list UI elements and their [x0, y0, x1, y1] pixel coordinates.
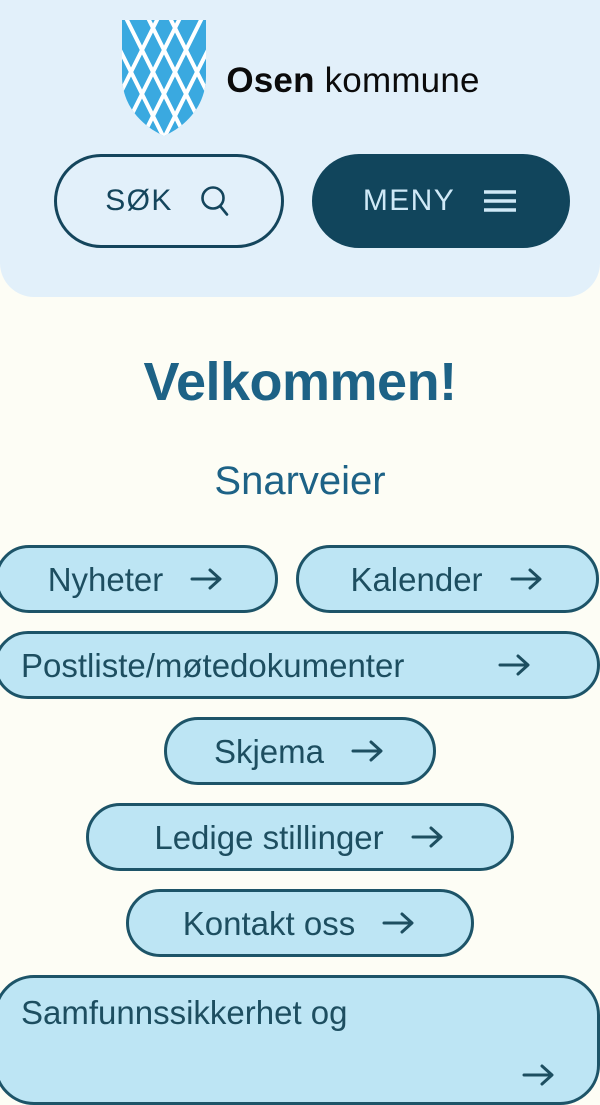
shortcut-nyheter[interactable]: Nyheter	[0, 545, 278, 613]
shortcut-row: Skjema	[0, 717, 600, 785]
shortcut-label: Kalender	[350, 563, 482, 596]
brand-wordmark: Osen kommune	[226, 59, 479, 98]
shortcut-kalender[interactable]: Kalender	[296, 545, 599, 613]
shortcuts-section-title: Snarveier	[0, 409, 600, 501]
brand-name-light: kommune	[325, 61, 480, 100]
arrow-right-icon	[350, 738, 386, 764]
shortcut-label: Skjema	[214, 735, 324, 768]
shortcut-row: Samfunnssikkerhet og	[0, 975, 600, 1105]
shortcut-row: Kontakt oss	[0, 889, 600, 957]
shortcut-postliste-motedokumenter[interactable]: Postliste/møtedokumenter	[0, 631, 600, 699]
brand-name-strong: Osen	[226, 61, 314, 100]
menu-button-label: MENY	[363, 184, 455, 218]
arrow-right-icon	[521, 1062, 557, 1088]
shortcut-skjema[interactable]: Skjema	[164, 717, 436, 785]
arrow-right-icon	[410, 824, 446, 850]
shortcut-row: Ledige stillinger	[0, 803, 600, 871]
shortcut-label: Nyheter	[48, 563, 164, 596]
arrow-right-icon	[497, 652, 533, 678]
shortcuts-list: Nyheter Kalender Postliste/møtedokumente…	[0, 545, 600, 1105]
search-button[interactable]: SØK	[54, 154, 284, 248]
shortcut-kontakt-oss[interactable]: Kontakt oss	[126, 889, 474, 957]
arrow-right-icon	[381, 910, 417, 936]
shortcut-label: Kontakt oss	[183, 907, 355, 940]
search-button-label: SØK	[105, 184, 173, 218]
header-actions: SØK MENY	[0, 154, 600, 248]
search-icon	[197, 183, 233, 219]
shortcut-label: Postliste/møtedokumenter	[21, 649, 404, 682]
arrow-right-icon	[189, 566, 225, 592]
shortcut-row: Nyheter Kalender	[0, 545, 600, 613]
shortcut-ledige-stillinger[interactable]: Ledige stillinger	[86, 803, 514, 871]
menu-button[interactable]: MENY	[312, 154, 570, 248]
shortcut-samfunnssikkerhet[interactable]: Samfunnssikkerhet og	[0, 975, 600, 1105]
shortcut-label: Ledige stillinger	[154, 821, 383, 854]
shortcut-row: Postliste/møtedokumenter	[0, 631, 600, 699]
shield-lattice-logo	[120, 18, 208, 138]
arrow-right-icon	[509, 566, 545, 592]
brand-logo[interactable]: Osen kommune	[0, 0, 600, 138]
main-content: Velkommen! Snarveier Nyheter Kalender	[0, 297, 600, 1105]
shortcut-label: Samfunnssikkerhet og	[21, 994, 348, 1032]
hamburger-icon	[481, 186, 519, 216]
page-title: Velkommen!	[0, 297, 600, 409]
site-header: Osen kommune SØK MENY	[0, 0, 600, 297]
